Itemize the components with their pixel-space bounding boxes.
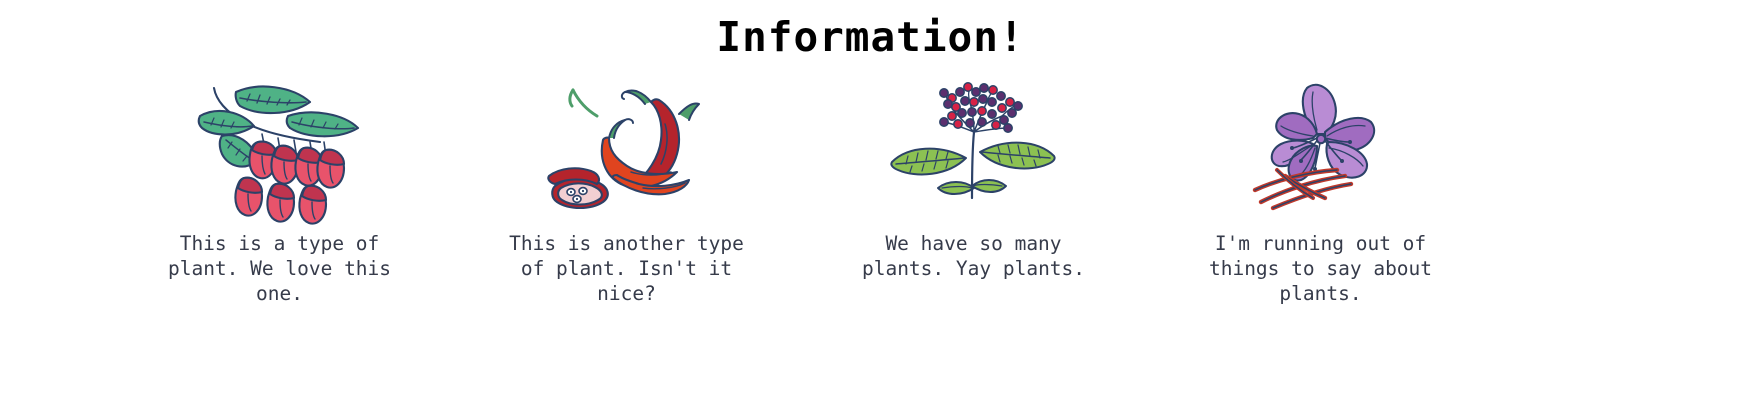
plant-caption: This is another type of plant. Isn't it … [477,231,777,306]
plant-caption: I'm running out of things to say about p… [1171,231,1471,306]
information-page: Information! [0,0,1741,420]
plant-caption: We have so many plants. Yay plants. [824,231,1124,281]
berry-branch-illustration [192,80,367,215]
plant-caption: This is a type of plant. We love this on… [130,231,430,306]
elderberry-illustration [886,80,1061,215]
plant-card-list: This is a type of plant. We love this on… [0,62,1741,306]
plant-card: We have so many plants. Yay plants. [800,80,1147,281]
page-title: Information! [0,0,1741,62]
chili-pepper-illustration [539,80,714,215]
plant-card: This is another type of plant. Isn't it … [453,80,800,306]
plant-card: This is a type of plant. We love this on… [106,80,453,306]
plant-card: I'm running out of things to say about p… [1147,80,1494,306]
purple-flower-illustration [1233,80,1408,215]
